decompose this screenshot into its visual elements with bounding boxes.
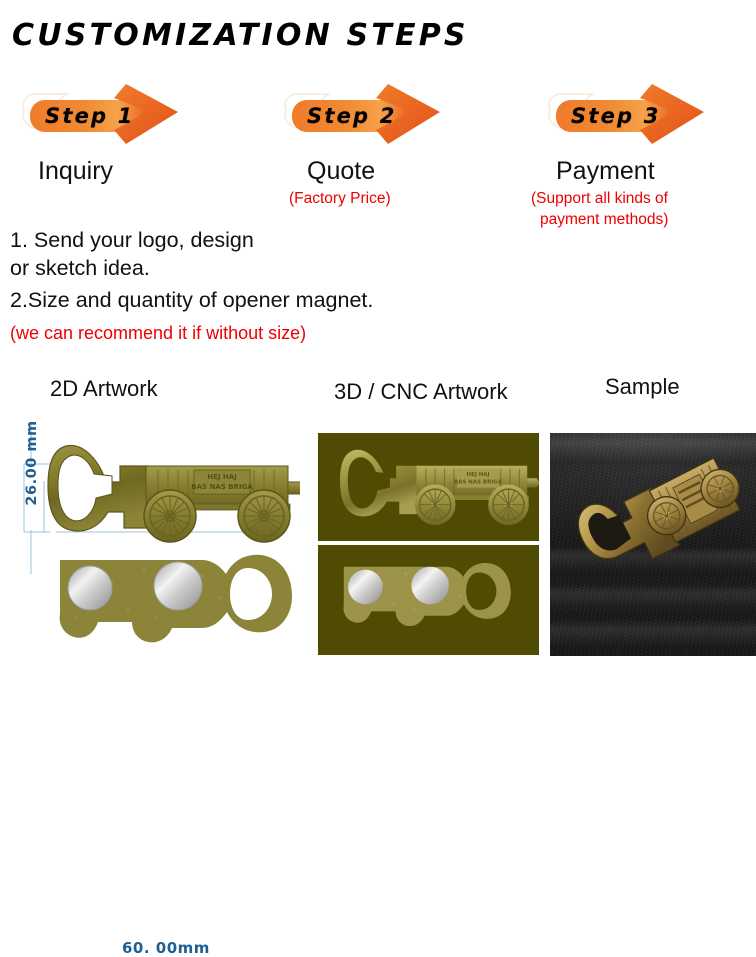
step-1-name: Inquiry [38, 157, 113, 186]
svg-text:HEJ HAJ: HEJ HAJ [467, 472, 490, 478]
customization-steps-infographic: CUSTOMIZATION STEPS [0, 0, 756, 656]
step-3-name: Payment [556, 157, 655, 186]
wagon-wheel-rear [144, 490, 196, 542]
artwork-3d-back-panel [318, 545, 539, 655]
step-1-badge-label: Step 1 [18, 80, 204, 152]
instruction-line-3: 2.Size and quantity of opener magnet. [10, 288, 373, 313]
instruction-line-1: 1. Send your logo, design [10, 228, 254, 253]
sample-photo [550, 433, 756, 656]
svg-text:BAS NAS BRIGA: BAS NAS BRIGA [454, 480, 503, 486]
step-2-name: Quote [307, 157, 375, 186]
instruction-note: (we can recommend it if without size) [10, 323, 306, 344]
cnc-front-render: HEJ HAJ BAS NAS BRIGA [318, 433, 539, 541]
engraving-text-line1: HEJ HAJ [207, 473, 237, 481]
step-3-block: Step 3 [544, 80, 730, 152]
section-heading-sample: Sample [605, 374, 680, 400]
step-3-arrow: Step 3 [544, 80, 730, 152]
opener-front-view: HEJ HAJ BAS NAS BRIGA [48, 445, 300, 542]
engraving-text-line2: BAS NAS BRIGA [191, 483, 253, 491]
magnet-right [411, 567, 448, 604]
step-3-badge-label: Step 3 [544, 80, 730, 152]
step-2-badge-label: Step 2 [280, 80, 466, 152]
step-3-subtitle-line1: (Support all kinds of [531, 188, 668, 209]
dimension-height-label: 26.00 mm [24, 420, 40, 506]
page-title: CUSTOMIZATION STEPS [12, 18, 469, 53]
step-2-block: Step 2 [280, 80, 466, 152]
instruction-line-2: or sketch idea. [10, 256, 150, 281]
sample-opener-photo [550, 433, 756, 656]
magnet-right [154, 562, 202, 610]
cnc-back-render [318, 545, 539, 655]
step-3-subtitle-line2: payment methods) [540, 209, 668, 230]
wagon-wheel-front [238, 490, 290, 542]
artwork-2d-drawing: HEJ HAJ BAS NAS BRIGA [0, 424, 300, 656]
artwork-3d-front-panel: HEJ HAJ BAS NAS BRIGA [318, 433, 539, 541]
artwork-2d-panel: HEJ HAJ BAS NAS BRIGA [0, 424, 300, 656]
section-heading-3d-cnc-artwork: 3D / CNC Artwork [334, 379, 508, 405]
step-2-arrow: Step 2 [280, 80, 466, 152]
magnet-left [348, 570, 383, 605]
step-2-subtitle: (Factory Price) [289, 188, 391, 209]
dimension-width-label: 60. 00mm [122, 939, 210, 957]
step-1-block: Step 1 [18, 80, 204, 152]
step-1-arrow: Step 1 [18, 80, 204, 152]
magnet-left [68, 566, 112, 610]
opener-back-view [60, 555, 292, 643]
section-heading-2d-artwork: 2D Artwork [50, 376, 158, 402]
